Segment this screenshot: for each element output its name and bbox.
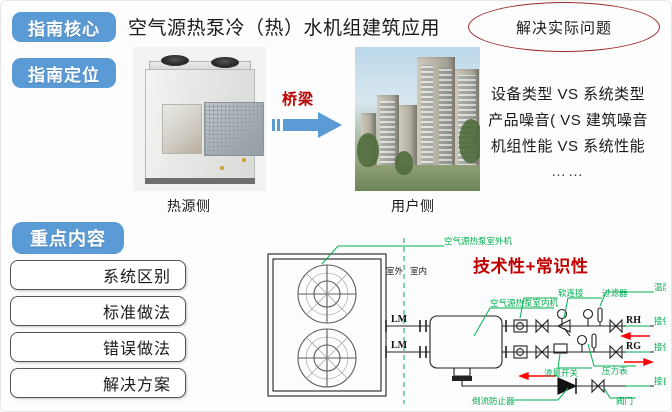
label-lm-upper: LM [391, 314, 408, 325]
tree-icon [357, 133, 379, 167]
comparison-list: 设备类型 VS 系统类型 产品噪音( VS 建筑噪音 机组性能 VS 系统性能 … [470, 82, 666, 184]
label-flex-joint: 软连接 [558, 288, 584, 298]
label-lm-lower: LM [391, 340, 408, 351]
badge-guide-core: 指南核心 [12, 12, 116, 42]
comparison-item: 机组性能 VS 系统性能 [470, 134, 666, 160]
label-rh: RH [626, 315, 641, 326]
heat-pump-marker [242, 158, 246, 162]
heat-pump-coil-grille [204, 102, 264, 156]
label-backflow-preventer: 倒流防止器 [472, 396, 515, 406]
list-item[interactable]: 解决方案 [10, 368, 186, 398]
system-schematic: 空气源热泵室外机 空气源热泵室内机 软连接 过滤器 温度计 流量开关 压力表 倒… [258, 232, 666, 408]
callout-ellipse-label: 解决实际问题 [516, 17, 612, 38]
label-supply-pipe: 接供暖热水供水 [654, 342, 666, 352]
ground-area [355, 165, 480, 191]
comparison-item: 产品噪音( VS 建筑噪音 [470, 108, 666, 134]
building-photo [355, 47, 480, 191]
heat-pump-base [145, 178, 255, 184]
label-rg: RG [626, 341, 641, 352]
building-windows [380, 101, 395, 173]
label-valve: 阀门 [616, 396, 633, 406]
heat-pump-marker [220, 166, 224, 170]
label-makeup-water: 接自来水补水 [654, 376, 666, 386]
tree-icon [395, 151, 413, 175]
heat-pump-side-panel [162, 104, 202, 154]
building-windows [439, 67, 452, 171]
callout-ellipse: 解决实际问题 [468, 2, 660, 52]
page-title: 空气源热泵冷（热）水机组建筑应用 [128, 13, 440, 40]
list-item[interactable]: 标准做法 [10, 296, 186, 326]
fan-cowl-icon [211, 57, 239, 68]
caption-user-side: 用户侧 [391, 196, 435, 216]
caption-heat-source-side: 热源侧 [167, 196, 211, 216]
comparison-ellipsis: …… [470, 160, 666, 184]
comparison-item: 设备类型 VS 系统类型 [470, 82, 666, 108]
fan-cowl-icon [161, 55, 189, 66]
label-filter: 过滤器 [602, 288, 628, 298]
label-outdoor-unit: 空气源热泵室外机 [444, 236, 513, 246]
label-indoor-unit: 空气源热泵室内机 [490, 298, 559, 308]
list-item[interactable]: 错误做法 [10, 332, 186, 362]
heat-pump-body [145, 69, 255, 183]
heat-pump-photo [133, 47, 266, 191]
building-windows [421, 65, 433, 173]
list-item[interactable]: 系统区别 [10, 260, 186, 290]
bridge-label: 桥梁 [282, 88, 314, 109]
label-inside: 室内 [410, 266, 427, 276]
slide-canvas: 指南核心 指南定位 重点内容 空气源热泵冷（热）水机组建筑应用 解决实际问题 桥… [0, 0, 672, 412]
label-flow-switch: 流量开关 [544, 368, 579, 378]
label-pressure-gauge: 压力表 [602, 366, 628, 376]
label-outside: 室外 [386, 266, 404, 276]
label-thermometer: 温度计 [654, 282, 666, 292]
badge-guide-position: 指南定位 [12, 58, 116, 88]
label-return-pipe: 接供暖热水回水 [654, 316, 666, 326]
badge-key-content: 重点内容 [12, 222, 124, 254]
bridge-arrow-icon [272, 110, 344, 140]
